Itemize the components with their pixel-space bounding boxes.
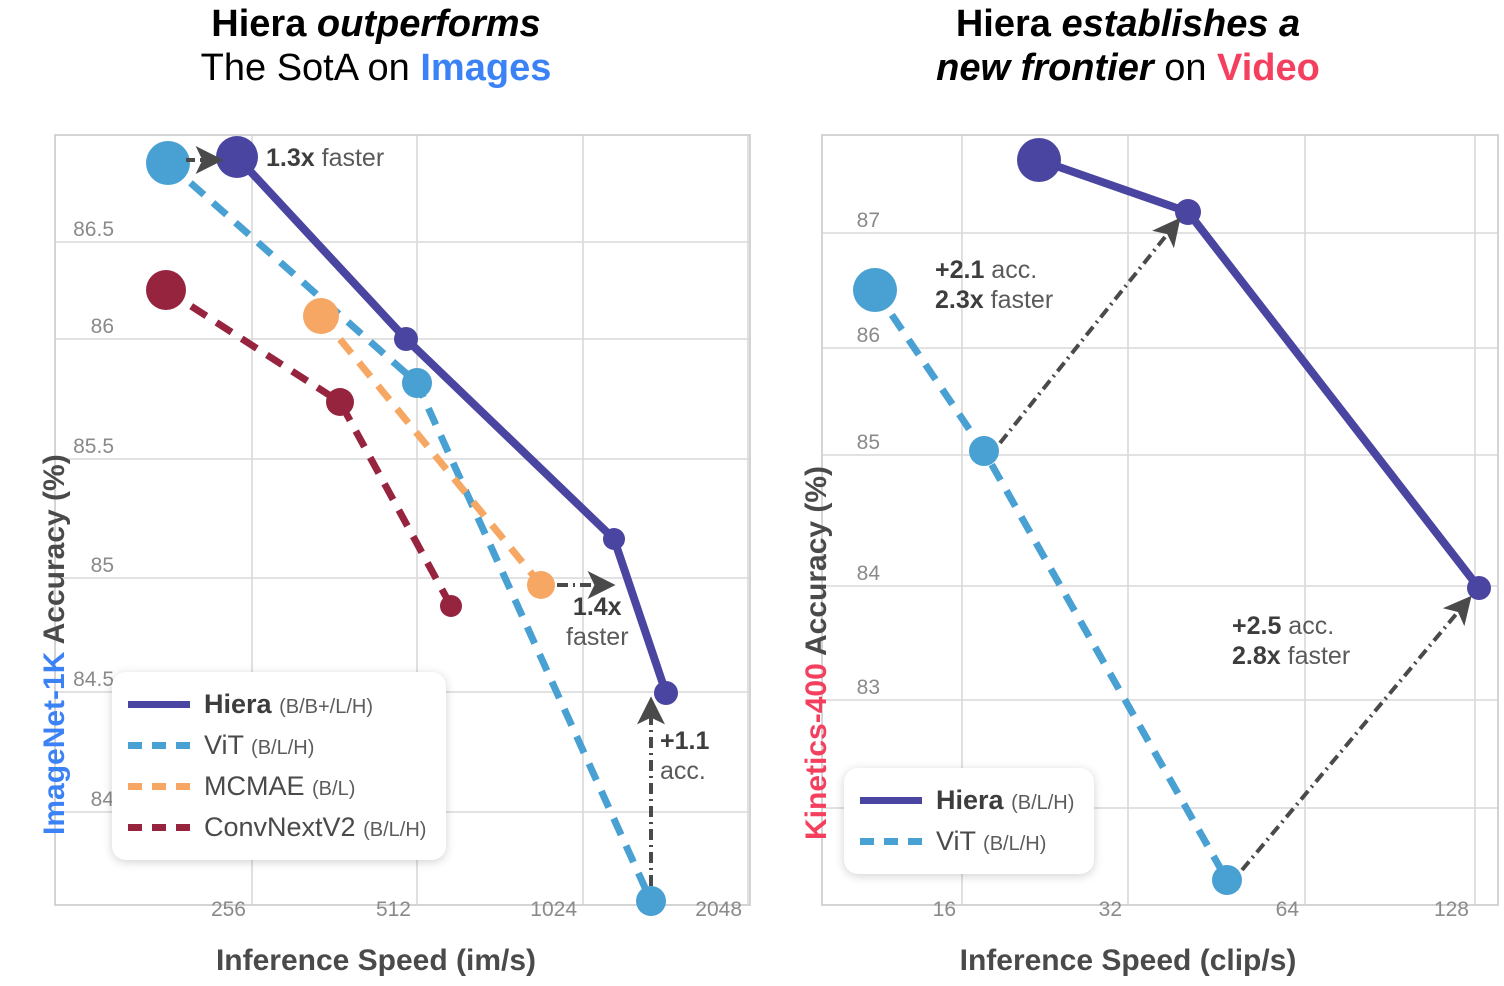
anno-1-3x-bold: 1.3x: [266, 144, 315, 172]
anno-2-1-rest: acc.: [984, 256, 1037, 284]
left-ytick-3: 85: [91, 554, 114, 577]
series-mcmae-line: [321, 316, 541, 585]
legend-item-convnextv2[interactable]: ConvNextV2 (B/L/H): [128, 807, 426, 848]
left-xtick-2: 1024: [530, 898, 577, 921]
right-legend[interactable]: Hiera (B/L/H) ViT (B/L/H): [844, 768, 1094, 874]
anno-2-5-rest: acc.: [1281, 612, 1334, 640]
legend-label-vit-video: ViT: [936, 826, 976, 856]
legend-variant-convnextv2: (B/L/H): [363, 819, 426, 841]
right-ytick-2: 85: [857, 431, 880, 454]
left-legend[interactable]: Hiera (B/B+/L/H) ViT (B/L/H) MCMAE (B/L)…: [112, 672, 446, 860]
legend-label-hiera-video: Hiera: [936, 785, 1004, 815]
right-xtick-2: 64: [1276, 898, 1300, 921]
anno-plus-1-1-acc: +1.1acc.: [660, 726, 709, 786]
point-hiera-bplus: [394, 327, 418, 351]
left-xtick-0: 256: [211, 898, 246, 921]
legend-variant-vit: (B/L/H): [251, 737, 314, 759]
anno-2-1-acc-2-3x-faster: +2.1 acc. 2.3x faster: [935, 255, 1053, 315]
point-vit-h-video: [1212, 865, 1242, 895]
point-vit-l: [402, 368, 432, 398]
legend-swatch-vit: [128, 742, 190, 749]
point-vit-h: [636, 886, 666, 916]
right-panel: Hiera establishes a new frontier on Vide…: [752, 0, 1504, 986]
point-convnextv2-l: [326, 388, 354, 416]
anno-2-5-acc-2-8x-faster: +2.5 acc. 2.8x faster: [1232, 611, 1350, 671]
legend-variant-mcmae: (B/L): [312, 778, 355, 800]
right-x-axis-title: Inference Speed (clip/s): [752, 944, 1504, 978]
legend-label-hiera: Hiera: [204, 689, 272, 719]
left-panel: Hiera outperforms The SotA on Images: [0, 0, 752, 986]
left-y-title-rest: Accuracy (%): [38, 454, 71, 651]
figure-root: Hiera outperforms The SotA on Images: [0, 0, 1504, 986]
left-ytick-4: 84.5: [73, 668, 114, 691]
right-ytick-1: 86: [857, 324, 880, 347]
legend-item-vit[interactable]: ViT (B/L/H): [128, 725, 426, 766]
right-y-axis-title: Kinetics-400 Accuracy (%): [800, 466, 834, 840]
point-mcmae-l: [527, 571, 555, 599]
point-hiera-l: [603, 528, 625, 550]
right-ytick-0: 87: [857, 209, 880, 232]
anno-2-5-bold: +2.5: [1232, 612, 1281, 640]
right-ytick-4: 83: [857, 676, 880, 699]
anno-2-1-bold: +2.1: [935, 256, 984, 284]
right-xtick-3: 128: [1434, 898, 1469, 921]
legend-item-hiera-video[interactable]: Hiera (B/L/H): [860, 780, 1074, 821]
anno-1-4x-rest: faster: [566, 623, 629, 651]
anno-1-3x-faster: 1.3x faster: [266, 143, 384, 173]
right-xtick-0: 16: [933, 898, 956, 921]
point-vit-l-video: [969, 436, 999, 466]
anno-plus-1-1-bold: +1.1: [660, 727, 709, 755]
legend-variant-hiera: (B/B+/L/H): [279, 696, 373, 718]
legend-variant-vit-video: (B/L/H): [983, 833, 1046, 855]
anno-2-8x-rest: faster: [1281, 642, 1350, 670]
point-hiera-h-video: [1467, 576, 1491, 600]
right-ytick-3: 84: [857, 562, 881, 585]
anno-1-3x-rest: faster: [315, 144, 384, 172]
left-ytick-0: 86.5: [73, 218, 114, 241]
anno-plus-1-1-rest: acc.: [660, 757, 706, 785]
legend-item-vit-video[interactable]: ViT (B/L/H): [860, 821, 1074, 862]
anno-2-3x-rest: faster: [984, 286, 1053, 314]
anno-1-4x-faster: 1.4xfaster: [566, 592, 629, 652]
legend-swatch-mcmae: [128, 783, 190, 790]
left-x-axis-title: Inference Speed (im/s): [0, 944, 752, 978]
point-hiera-b: [216, 136, 258, 178]
left-ytick-1: 86: [91, 315, 114, 338]
anno-2-3x-bold: 2.3x: [935, 286, 984, 314]
legend-item-hiera[interactable]: Hiera (B/B+/L/H): [128, 684, 426, 725]
legend-swatch-vit-video: [860, 838, 922, 845]
legend-swatch-convnextv2: [128, 824, 190, 831]
left-xtick-3: 2048: [695, 898, 742, 921]
anno-1-4x-bold: 1.4x: [573, 593, 622, 621]
point-vit-b: [146, 141, 190, 185]
legend-label-vit: ViT: [204, 730, 244, 760]
point-hiera-b-video: [1017, 138, 1061, 182]
point-hiera-h: [654, 681, 678, 705]
left-y-title-accent: ImageNet-1K: [38, 652, 71, 835]
legend-label-mcmae: MCMAE: [204, 771, 305, 801]
point-mcmae-b: [303, 298, 339, 334]
point-convnextv2-b: [146, 270, 186, 310]
point-hiera-l-video: [1175, 199, 1201, 225]
left-ytick-5: 84: [91, 788, 115, 811]
anno-2-8x-bold: 2.8x: [1232, 642, 1281, 670]
left-ytick-2: 85.5: [73, 435, 114, 458]
legend-swatch-hiera: [128, 701, 190, 708]
right-y-title-rest: Accuracy (%): [800, 466, 833, 663]
series-hiera-line-video: [1039, 160, 1479, 588]
legend-swatch-hiera-video: [860, 797, 922, 804]
legend-label-convnextv2: ConvNextV2: [204, 812, 356, 842]
left-xtick-1: 512: [376, 898, 411, 921]
right-xtick-1: 32: [1099, 898, 1122, 921]
legend-variant-hiera-video: (B/L/H): [1011, 792, 1074, 814]
left-y-axis-title: ImageNet-1K Accuracy (%): [38, 454, 72, 835]
point-convnextv2-h: [440, 595, 462, 617]
right-y-title-accent: Kinetics-400: [800, 663, 833, 840]
legend-item-mcmae[interactable]: MCMAE (B/L): [128, 766, 426, 807]
point-vit-b-video: [853, 268, 897, 312]
